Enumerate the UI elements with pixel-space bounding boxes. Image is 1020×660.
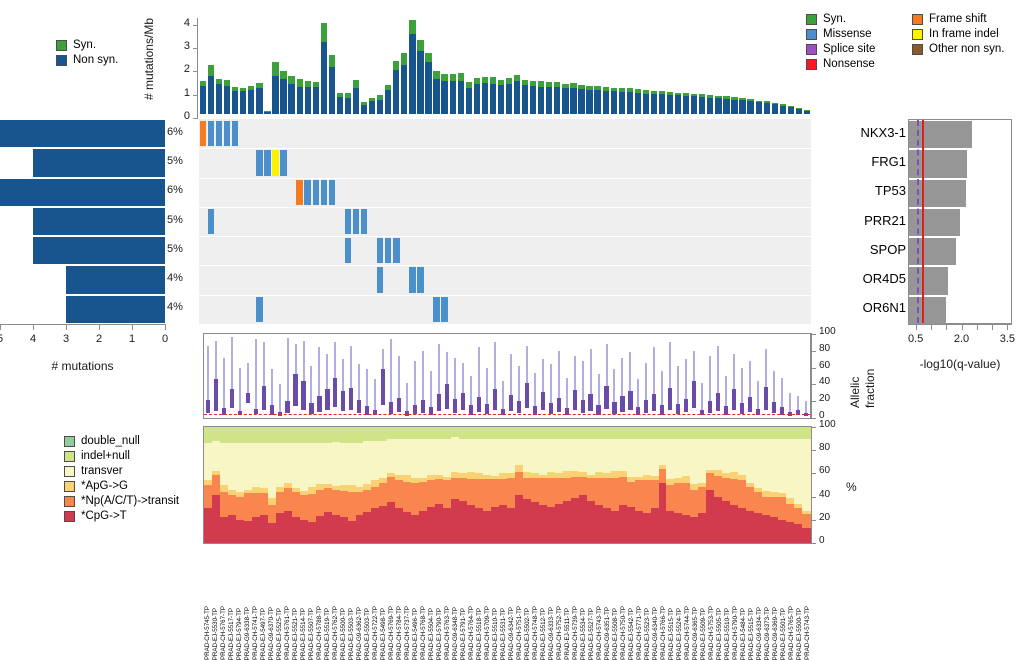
bar-segment-nonsyn: [425, 62, 431, 114]
allelic-fraction-box: [620, 396, 624, 412]
axis-tick: [811, 450, 816, 451]
oncoprint-cell[interactable]: [256, 297, 262, 322]
bar-segment-syn: [353, 80, 359, 88]
legend-spectrum-item: *CpG->T: [64, 509, 179, 524]
legend-swatch-icon: [64, 496, 75, 507]
legend-spectrum-item: transver: [64, 464, 179, 479]
mutation-rate-bar: [683, 93, 689, 114]
axis-tick: [1007, 324, 1008, 330]
bar-segment-syn: [482, 77, 488, 83]
axis-tick-label: 2.0: [950, 333, 974, 345]
bar-segment-syn: [723, 96, 729, 98]
bar-segment-nonsyn: [538, 87, 544, 114]
mutation-rate-bar: [619, 88, 625, 114]
spectrum-segment: [802, 514, 811, 528]
sample-id-label: PRAD-CH-5739-TP: [572, 606, 579, 660]
allelic-fraction-box: [517, 401, 521, 413]
bar-segment-syn: [385, 85, 391, 89]
gene-name-label: TP53: [875, 183, 906, 198]
bar-segment-syn: [522, 80, 528, 85]
gene-mutation-percent: 5%: [167, 155, 183, 167]
sample-id-label: PRAD-CH-5722-TP: [372, 606, 379, 660]
bar-segment-nonsyn: [409, 34, 415, 114]
bar-segment-syn: [264, 111, 270, 112]
bar-segment-nonsyn: [482, 83, 488, 114]
axis-tick: [165, 324, 166, 330]
sample-id-label: PRAD-EJ-5517-TP: [228, 608, 235, 660]
bar-segment-nonsyn: [780, 106, 786, 114]
bar-segment-syn: [788, 106, 794, 107]
legend-swatch-icon: [64, 451, 75, 462]
bar-segment-syn: [216, 79, 222, 84]
sample-id-label: PRAD-EJ-5521-TP: [292, 608, 299, 660]
sample-id-label: PRAD-EJ-5515-TP: [668, 608, 675, 660]
sample-id-label: PRAD-G9-6362-TP: [356, 607, 363, 660]
bar-segment-nonsyn: [578, 89, 584, 114]
bar-segment-nonsyn: [345, 98, 351, 114]
bar-segment-nonsyn: [208, 76, 214, 114]
sample-id-label: PRAD-EJ-5524-TP: [676, 608, 683, 660]
legend-label: *Np(A/C/T)->transit: [81, 496, 179, 508]
sample-id-label: PRAD-CH-5737-TP: [404, 606, 411, 660]
sample-id-label: PRAD-CH-5745-TP: [204, 606, 211, 660]
axis-tick: [0, 324, 1, 330]
mutation-rate-bar: [474, 78, 480, 114]
mutation-rate-bar: [546, 82, 552, 114]
gene-mutation-percent: 4%: [167, 272, 183, 284]
allelic-fraction-box: [206, 400, 210, 413]
bar-segment-syn: [377, 95, 383, 100]
allelic-fraction-box: [349, 388, 353, 410]
sample-id-label: PRAD-EJ-5530-TP: [212, 608, 219, 660]
bar-segment-nonsyn: [691, 96, 697, 114]
axis-tick-label: 60: [819, 465, 830, 476]
sample-id-labels: PRAD-CH-5745-TPPRAD-EJ-5530-TPPRAD-CH-57…: [203, 548, 811, 660]
bar-segment-nonsyn: [216, 84, 222, 114]
mutation-rate-bar: [200, 81, 206, 114]
allelic-fraction-ylabel: Allelic fraction: [848, 346, 877, 408]
bar-segment-syn: [441, 74, 447, 81]
legend-variant-item: Other non syn.: [912, 42, 1004, 57]
oncoprint-cell[interactable]: [377, 238, 383, 263]
bar-segment-syn: [474, 78, 480, 85]
bar-segment-nonsyn: [707, 98, 713, 114]
spectrum-segment: [802, 528, 811, 543]
mutation-rate-bar: [627, 88, 633, 114]
oncoprint-cell[interactable]: [200, 121, 206, 146]
oncoprint-cell[interactable]: [345, 209, 351, 234]
oncoprint-cell[interactable]: [208, 121, 214, 146]
sample-id-label: PRAD-EJ-5508-TP: [612, 608, 619, 660]
oncoprint-cell[interactable]: [264, 150, 270, 175]
bar-segment-syn: [691, 94, 697, 97]
sample-id-label: PRAD-EJ-5515-TP: [748, 608, 755, 660]
bar-segment-syn: [498, 80, 504, 86]
sample-id-label: PRAD-EJ-5791-TP: [460, 608, 467, 660]
sample-id-label: PRAD-G9-6342-TP: [508, 607, 515, 660]
mutation-rate-bar: [804, 110, 810, 114]
bar-segment-nonsyn: [739, 100, 745, 114]
bar-segment-syn: [313, 82, 319, 87]
sample-id-label: PRAD-CH-5762-TP: [332, 606, 339, 660]
allelic-fraction-box: [764, 387, 768, 410]
axis-tick: [916, 324, 917, 330]
sample-id-label: PRAD-EJ-5790-TP: [436, 608, 443, 660]
axis-tick-label: 80: [819, 343, 830, 354]
bar-segment-syn: [635, 89, 641, 93]
allelic-fraction-whisker: [255, 339, 257, 414]
axis-tick: [193, 48, 198, 49]
legend-variant-item: Syn.: [806, 12, 875, 27]
matrix-gridline: [199, 236, 811, 237]
legend-label: *CpG->T: [81, 511, 127, 523]
sample-id-label: PRAD-CH-5769-TP: [388, 606, 395, 660]
sample-id-label: PRAD-EJ-5542-TP: [628, 608, 635, 660]
allelic-fraction-box: [445, 384, 449, 408]
bar-segment-syn: [224, 80, 230, 86]
bar-segment-nonsyn: [699, 97, 705, 114]
axis-tick-label: 1: [184, 87, 190, 99]
axis-tick: [811, 543, 816, 544]
bar-segment-nonsyn: [796, 109, 802, 114]
bar-segment-nonsyn: [804, 111, 810, 114]
bar-segment-syn: [433, 71, 439, 79]
sample-id-label: PRAD-EJ-5500-TP: [796, 608, 803, 660]
bar-segment-syn: [466, 82, 472, 88]
oncoprint-matrix: [199, 119, 811, 324]
bar-segment-syn: [345, 93, 351, 98]
bar-segment-syn: [659, 91, 665, 94]
allelic-fraction-box: [676, 404, 680, 414]
mutation-rate-bar: [796, 108, 802, 114]
bar-segment-syn: [409, 20, 415, 34]
matrix-gridline: [199, 265, 811, 266]
oncoprint-cell[interactable]: [393, 238, 399, 263]
axis-tick: [66, 324, 67, 330]
bar-segment-syn: [780, 104, 786, 105]
bar-segment-syn: [337, 93, 343, 97]
legend-swatch-icon: [912, 44, 923, 55]
mutation-rate-bar: [337, 93, 343, 114]
sample-id-label: PRAD-G9-6351-TP: [604, 607, 611, 660]
bar-segment-nonsyn: [361, 105, 367, 114]
axis-tick: [962, 324, 963, 330]
mutation-rate-bar: [256, 83, 262, 114]
mutation-rate-bar: [305, 81, 311, 114]
mutation-rate-bar: [393, 61, 399, 114]
mutation-rate-bar: [240, 88, 246, 115]
allelic-fraction-box: [413, 405, 417, 414]
gene-name-label: PRR21: [864, 213, 906, 228]
allelic-fraction-box: [628, 391, 632, 410]
bar-segment-nonsyn: [377, 100, 383, 114]
allelic-fraction-box: [357, 400, 361, 413]
bar-segment-nonsyn: [248, 90, 254, 114]
allelic-fraction-box: [485, 404, 489, 414]
oncoprint-cell[interactable]: [313, 180, 319, 205]
allelic-fraction-box: [588, 394, 592, 412]
oncoprint-cell[interactable]: [216, 121, 222, 146]
allelic-fraction-box: [461, 393, 465, 411]
qvalue-bar: [909, 297, 946, 324]
oncoprint-cell[interactable]: [345, 238, 351, 263]
bar-segment-nonsyn: [546, 87, 552, 114]
bar-segment-nonsyn: [554, 87, 560, 114]
oncoprint-cell[interactable]: [409, 267, 415, 292]
oncoprint-cell[interactable]: [256, 150, 262, 175]
sample-id-label: PRAD-CH-5788-TP: [316, 606, 323, 660]
sample-id-label: PRAD-EJ-5534-TP: [580, 608, 587, 660]
legend-swatch-icon: [912, 29, 923, 40]
sample-id-label: PRAD-CH-5751-TP: [516, 606, 523, 660]
bar-segment-nonsyn: [329, 67, 335, 114]
axis-tick-label: 5: [0, 333, 5, 345]
bar-segment-syn: [248, 86, 254, 90]
legend-synonymous-item: Syn.: [56, 38, 118, 53]
bar-segment-nonsyn: [603, 91, 609, 114]
sample-id-label: PRAD-CH-5771-TP: [636, 606, 643, 660]
sample-id-label: PRAD-EJ-5519-TP: [324, 608, 331, 660]
bar-segment-nonsyn: [715, 98, 721, 114]
legend-label: double_null: [81, 436, 140, 448]
bar-segment-nonsyn: [772, 104, 778, 114]
sample-id-label: PRAD-CH-5763-TP: [444, 606, 451, 660]
allelic-fraction-box: [309, 403, 313, 414]
oncoprint-cell[interactable]: [361, 209, 367, 234]
allelic-fraction-box: [652, 394, 656, 411]
gene-name-label: SPOP: [870, 242, 906, 257]
mutation-rate-bar: [208, 65, 214, 114]
mutation-rate-bar: [667, 92, 673, 114]
mutation-rate-bar: [345, 93, 351, 114]
legend-variant-item: Frame shift: [912, 12, 1004, 27]
bar-segment-syn: [756, 101, 762, 103]
bar-segment-nonsyn: [764, 103, 770, 114]
bar-segment-syn: [764, 101, 770, 103]
allelic-fraction-box: [684, 399, 688, 412]
bar-segment-nonsyn: [731, 100, 737, 114]
oncoprint-cell[interactable]: [385, 238, 391, 263]
axis-tick: [193, 25, 198, 26]
bar-segment-syn: [796, 108, 802, 109]
legend-variant-item: In frame indel: [912, 27, 1004, 42]
axis-tick: [811, 351, 816, 352]
bar-segment-syn: [297, 79, 303, 86]
qvalue-threshold-line: [922, 120, 924, 323]
mutation-rate-bar: [417, 40, 423, 114]
oncoprint-cell[interactable]: [441, 297, 447, 322]
axis-tick: [811, 520, 816, 521]
matrix-gridline: [199, 148, 811, 149]
oncoprint-cell[interactable]: [224, 121, 230, 146]
mutation-rate-bar: [635, 89, 641, 114]
legend-spectrum-item: indel+null: [64, 449, 179, 464]
bar-segment-syn: [739, 98, 745, 100]
allelic-fraction-box: [325, 389, 329, 410]
bar-segment-syn: [458, 73, 464, 81]
bar-segment-syn: [699, 94, 705, 97]
mutation-rate-bar: [409, 20, 415, 114]
bar-segment-nonsyn: [619, 92, 625, 114]
oncoprint-cell[interactable]: [272, 150, 278, 175]
bar-segment-syn: [321, 23, 327, 42]
bar-segment-syn: [288, 76, 294, 84]
oncoprint-cell[interactable]: [417, 267, 423, 292]
legend-label: Missense: [823, 29, 872, 41]
mutation-rate-bar: [506, 78, 512, 114]
allelic-fraction-box: [692, 381, 696, 408]
bar-segment-nonsyn: [643, 94, 649, 114]
sample-id-label: PRAD-CH-5752-TP: [556, 606, 563, 660]
bar-segment-syn: [450, 74, 456, 81]
legend-label: In frame indel: [929, 29, 999, 41]
sample-id-label: PRAD-CH-5790-TP: [732, 606, 739, 660]
sample-id-label: PRAD-CH-5750-TP: [620, 606, 627, 660]
mutation-rate-bar: [280, 71, 286, 114]
legend-variant-item: Nonsense: [806, 57, 875, 72]
allelic-fraction-box: [246, 393, 250, 403]
legend-swatch-icon: [912, 14, 923, 25]
axis-tick: [811, 418, 816, 419]
axis-tick: [193, 95, 198, 96]
mutation-rate-bar: [458, 73, 464, 114]
allelic-fraction-box: [389, 402, 393, 414]
mutation-rate-bar: [450, 74, 456, 114]
gene-name-label: OR4D5: [863, 271, 906, 286]
mutation-rate-bar: [490, 77, 496, 114]
bar-segment-syn: [538, 81, 544, 86]
bar-segment-syn: [804, 110, 810, 111]
axis-tick-label: 100: [819, 326, 836, 337]
sample-id-label: PRAD-CH-5753-TP: [708, 606, 715, 660]
allelic-fraction-box: [421, 400, 425, 413]
mutation-rate-bar: [361, 102, 367, 114]
allelic-fraction-box: [748, 397, 752, 412]
sample-id-label: PRAD-EJ-5523-TP: [644, 608, 651, 660]
bar-segment-syn: [554, 82, 560, 87]
legend-spectrum-item: *ApG->G: [64, 479, 179, 494]
mutation-rate-bar: [772, 103, 778, 114]
oncoprint-cell[interactable]: [329, 180, 335, 205]
oncoprint-cell[interactable]: [304, 180, 310, 205]
bar-segment-syn: [232, 87, 238, 91]
mutation-rate-bar: [739, 98, 745, 114]
allelic-fraction-whisker: [223, 358, 225, 415]
legend-variant-item: Missense: [806, 27, 875, 42]
sample-id-label: PRAD-G9-6370-TP: [268, 607, 275, 660]
legend-label: transver: [81, 466, 123, 478]
oncoprint-cell[interactable]: [321, 180, 327, 205]
axis-tick-label: 2: [94, 333, 104, 345]
bar-segment-nonsyn: [490, 84, 496, 114]
matrix-gridline: [199, 295, 811, 296]
bar-segment-syn: [667, 92, 673, 95]
bar-segment-nonsyn: [458, 81, 464, 114]
oncoprint-cell[interactable]: [296, 180, 302, 205]
mutation-rate-bar: [570, 83, 576, 114]
bar-segment-nonsyn: [506, 84, 512, 114]
mutation-spectrum-chart: [203, 426, 811, 544]
axis-tick-label: 40: [819, 376, 830, 387]
mutation-rate-bar: [514, 75, 520, 114]
axis-tick-label: 4: [184, 17, 190, 29]
bar-segment-nonsyn: [272, 76, 278, 114]
matrix-gridline: [199, 178, 811, 179]
allelic-fraction-box: [708, 401, 712, 413]
sample-id-label: PRAD-EJ-5484-TP: [740, 608, 747, 660]
mutation-rate-bar: [216, 79, 222, 114]
mutation-rate-bar: [297, 79, 303, 114]
mutation-rate-bar: [401, 53, 407, 114]
mutation-rate-bar: [764, 101, 770, 114]
oncoprint-cell[interactable]: [353, 209, 359, 234]
mutation-rate-bar: [643, 90, 649, 114]
sample-id-label: PRAD-CH-5767-TP: [220, 606, 227, 660]
bar-segment-syn: [570, 83, 576, 87]
axis-tick: [811, 427, 816, 428]
bar-segment-nonsyn: [385, 90, 391, 114]
mutation-rate-bar: [699, 94, 705, 114]
sample-id-label: PRAD-CH-5741-TP: [252, 606, 259, 660]
legend-variant-item: Splice site: [806, 42, 875, 57]
mutation-rate-bar: [264, 111, 270, 114]
gene-mutation-percent: 5%: [167, 214, 183, 226]
sample-id-label: PRAD-G9-6333-TP: [548, 607, 555, 660]
allelic-fraction-box: [604, 386, 608, 409]
sample-id-label: PRAD-CH-5709-TP: [484, 606, 491, 660]
mutation-rate-bar: [578, 85, 584, 114]
sample-id-label: PRAD-G9-6338-TP: [244, 607, 251, 660]
allelic-fraction-box: [581, 400, 585, 413]
oncoprint-cell[interactable]: [377, 267, 383, 292]
bar-segment-nonsyn: [369, 101, 375, 114]
bar-segment-syn: [240, 88, 246, 92]
bar-segment-nonsyn: [466, 88, 472, 114]
mutation-rate-chart: [199, 14, 811, 114]
allelic-fraction-box: [230, 389, 234, 407]
bar-segment-nonsyn: [570, 88, 576, 115]
mutation-rate-bar: [586, 86, 592, 114]
bar-segment-nonsyn: [611, 91, 617, 114]
sample-id-label: PRAD-CH-5766-TP: [660, 606, 667, 660]
mutation-rate-bar: [715, 96, 721, 114]
mutation-rate-bar: [562, 84, 568, 114]
mutation-rate-bar: [498, 80, 504, 114]
bar-segment-syn: [747, 99, 753, 101]
sample-id-label: PRAD-EJ-5525-TP: [276, 608, 283, 660]
qvalue-bar: [909, 238, 956, 265]
bar-segment-syn: [200, 81, 206, 86]
gene-count-bar: [66, 296, 165, 323]
bar-segment-syn: [603, 87, 609, 91]
bar-segment-nonsyn: [450, 81, 456, 114]
axis-tick: [811, 334, 816, 335]
mutation-rate-bar: [603, 87, 609, 114]
bar-segment-syn: [530, 81, 536, 86]
oncoprint-cell[interactable]: [208, 209, 214, 234]
allelic-fraction-y-axis: 020406080100: [811, 333, 851, 419]
bar-segment-nonsyn: [232, 91, 238, 114]
mutation-rate-bar: [731, 97, 737, 114]
allelic-fraction-box: [573, 390, 577, 409]
mutation-rate-bar: [747, 99, 753, 114]
oncoprint-cell[interactable]: [232, 121, 238, 146]
sample-id-label: PRAD-CH-5761-TP: [284, 606, 291, 660]
mutation-rate-bar: [441, 74, 447, 114]
oncoprint-cell[interactable]: [280, 150, 286, 175]
oncoprint-cell[interactable]: [433, 297, 439, 322]
legend-label: *ApG->G: [81, 481, 128, 493]
